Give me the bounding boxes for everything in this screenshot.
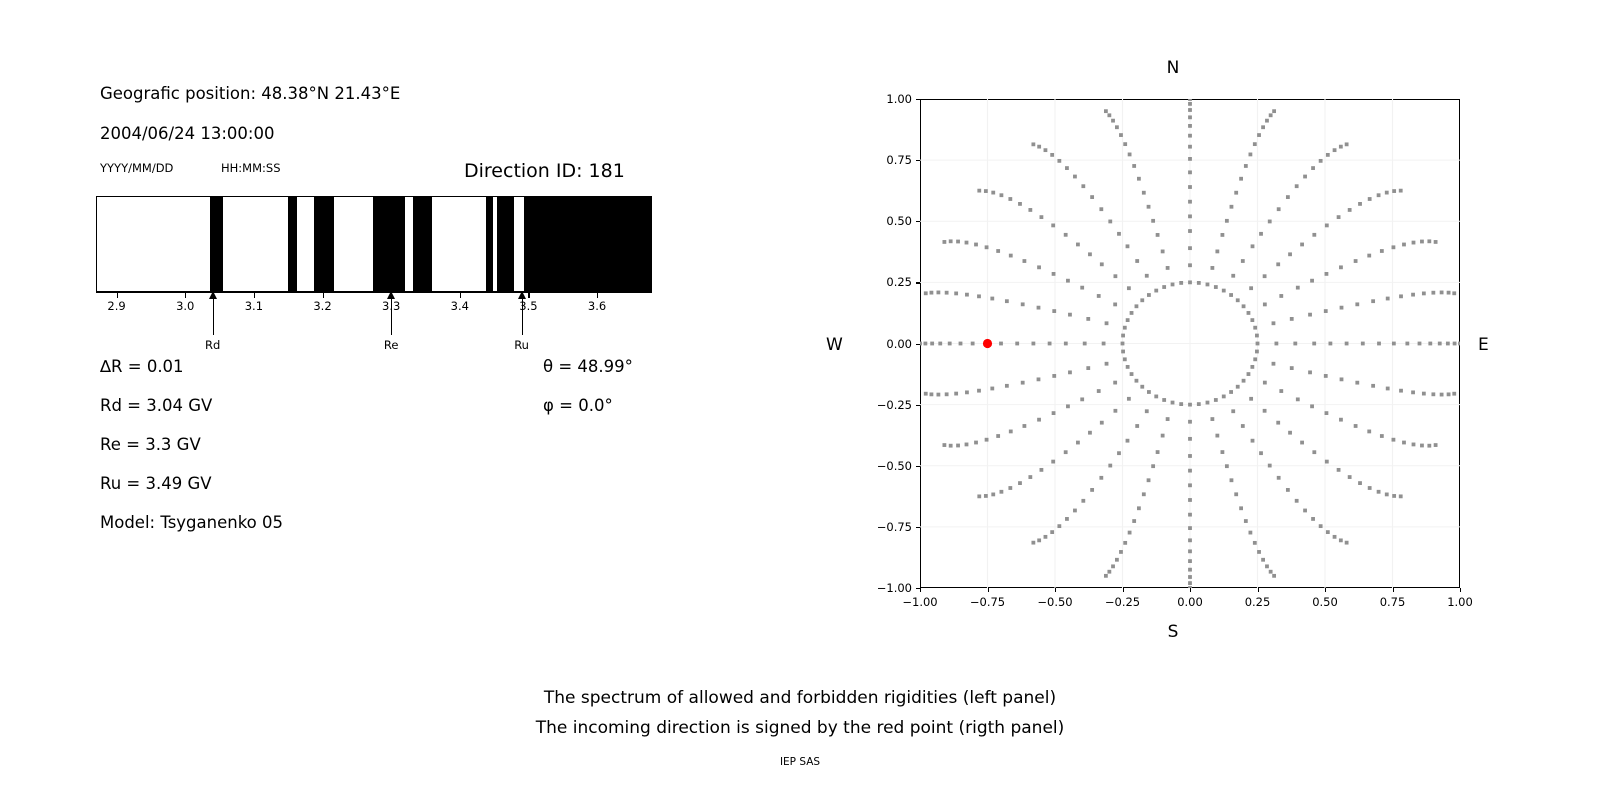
scatter-point [1392,189,1396,193]
scatter-point [1272,362,1276,366]
forbidden-band [314,197,334,291]
datetime-text: 2004/06/24 13:00:00 [100,124,274,143]
scatter-point [1420,240,1424,244]
scatter-point [1248,153,1252,157]
scatter-point [1142,191,1146,195]
scatter-point [1337,215,1341,219]
compass-label-north: N [1167,58,1180,78]
scatter-point [1355,302,1359,306]
y-axis-tick-label: −0.75 [877,520,912,534]
scatter-point [1251,244,1255,248]
scatter-point [1100,421,1104,425]
scatter-point [1276,421,1280,425]
scatter-point [1325,224,1329,228]
scatter-point [1154,289,1158,293]
scatter-point [1377,490,1381,494]
scatter-point [1000,193,1004,197]
scatter-point [1040,215,1044,219]
y-axis-tick-label: −0.25 [877,398,912,412]
scatter-point [1188,513,1192,517]
scatter-point [1310,279,1314,283]
scatter-point [1337,468,1341,472]
scatter-point [977,189,981,193]
scatter-point [1276,262,1280,266]
scatter-point [1015,342,1019,346]
scatter-point [1325,460,1329,464]
scatter-point [1296,286,1300,290]
y-axis-tick-label: 1.00 [886,92,912,106]
param-phi: φ = 0.0° [543,396,613,415]
y-axis-tick-label: 0.75 [886,153,912,167]
scatter-point [1300,243,1304,247]
scatter-point [1286,488,1290,492]
scatter-point [1277,207,1281,211]
scatter-point [1402,441,1406,445]
scatter-point [1188,124,1192,128]
scatter-point [954,292,958,296]
scatter-point [1221,450,1225,454]
scatter-point [1037,145,1041,149]
scatter-point [1333,535,1337,539]
scatter-point [1008,197,1012,201]
scatter-point [1405,342,1409,346]
scatter-point [1247,311,1251,315]
scatter-point [1145,409,1149,413]
scatter-point [1113,274,1117,278]
scatter-point [1358,481,1362,485]
scatter-point [1324,374,1328,378]
scatter-point [954,392,958,396]
scatter-point [996,249,1000,253]
scatter-point [1188,280,1192,284]
scatter-point [1022,424,1026,428]
scatter-point [1231,409,1235,413]
scatter-point [1326,153,1330,157]
scatter-point [1377,193,1381,197]
scatter-point [1126,439,1130,443]
scatter-point [1399,389,1403,393]
scatter-point [1303,509,1307,513]
scatter-point [1392,494,1396,498]
incoming-direction-chart [920,99,1460,588]
scatter-point [1308,370,1312,374]
scatter-point [1197,281,1201,285]
scatter-point [1420,444,1424,448]
scatter-point [1073,509,1077,513]
scatter-point [1188,102,1192,106]
spectrum-bar [96,196,652,292]
scatter-point [1066,279,1070,283]
x-axis-tick [1258,588,1259,592]
scatter-point [1411,390,1415,394]
scatter-point [1121,350,1125,354]
scatter-point [1179,281,1183,285]
scatter-point [1222,395,1226,399]
scatter-point [1081,184,1085,188]
scatter-point [1166,417,1170,421]
scatter-point [1140,298,1144,302]
scatter-point [930,392,934,396]
scatter-point [1231,274,1235,278]
x-axis-tick-label: −0.50 [1037,595,1072,609]
scatter-point [1086,317,1090,321]
scatter-point [1339,265,1343,269]
scatter-point [1206,401,1210,405]
scatter-point [1225,464,1229,468]
scatter-point [1263,409,1267,413]
scatter-point [1288,431,1292,435]
scatter-point [1311,517,1315,521]
scatter-point [1090,195,1094,199]
scatter-point [1031,541,1035,545]
scatter-point [1241,424,1245,428]
compass-label-west: W [826,335,843,355]
scatter-point [1107,570,1111,574]
polar-scatter-canvas [920,99,1460,588]
scatter-point [1188,420,1192,424]
scatter-point [1440,291,1444,295]
scatter-point [1188,437,1192,441]
scatter-point [1239,177,1243,181]
scatter-point [1447,291,1451,295]
scatter-point [1064,342,1068,346]
scatter-point [984,494,988,498]
scatter-point [1392,342,1396,346]
scatter-point [1339,538,1343,542]
x-axis-tick [1055,588,1056,592]
scatter-point [1130,372,1134,376]
marker-arrowhead-re [387,291,395,299]
scatter-point [1145,274,1149,278]
scatter-point [1111,564,1115,568]
scatter-point [1269,570,1273,574]
x-axis-tick-label: −0.25 [1105,595,1140,609]
scatter-point [1239,506,1243,510]
scatter-point [942,240,946,244]
scatter-point [1021,302,1025,306]
x-axis-tick [1393,588,1394,592]
scatter-point [1234,492,1238,496]
scatter-point [1229,390,1233,394]
scatter-point [1188,134,1192,138]
scatter-point [1222,289,1226,293]
scatter-point [1188,454,1192,458]
scatter-point [1113,303,1117,307]
scatter-point [1052,374,1056,378]
scatter-point [1065,166,1069,170]
x-axis-tick-label: 0.00 [1177,595,1203,609]
scatter-point [1265,564,1269,568]
scatter-point [1090,488,1094,492]
scatter-point [1140,385,1144,389]
scatter-point [1126,318,1130,322]
scatter-point [1161,434,1165,438]
scatter-point [1064,233,1068,237]
scatter-point [1127,397,1131,401]
scatter-point [1005,299,1009,303]
scatter-point [1354,424,1358,428]
scatter-point [1354,259,1358,263]
scatter-point [1037,265,1041,269]
scatter-point [1253,142,1257,146]
scatter-point [1312,450,1316,454]
scatter-point [1102,342,1106,346]
scatter-point [1161,250,1165,254]
scatter-point [1206,283,1210,287]
scatter-point [1434,443,1438,447]
scatter-point [1272,109,1276,113]
scatter-point [924,291,928,295]
scatter-point [1438,342,1442,346]
x-axis-tick-label: 0.25 [1245,595,1271,609]
y-axis-tick [916,588,920,589]
scatter-point [1434,240,1438,244]
spectrum-markers: RdReRu [96,292,652,352]
scatter-point [1225,219,1229,223]
scatter-point [1188,559,1192,563]
scatter-point [1367,430,1371,434]
scatter-point [1064,450,1068,454]
scatter-point [1068,370,1072,374]
scatter-point [1279,294,1283,298]
scatter-point [1080,397,1084,401]
scatter-point [1392,438,1396,442]
scatter-point [1018,202,1022,206]
scatter-point [1188,115,1192,119]
scatter-point [1113,381,1117,385]
scatter-point [938,342,942,346]
scatter-point [1277,476,1281,480]
scatter-point [1236,385,1240,389]
scatter-point [1021,381,1025,385]
scatter-point [1009,254,1013,258]
marker-label-re: Re [384,338,399,352]
scatter-point [1022,259,1026,263]
scatter-point [1440,393,1444,397]
scatter-point [1428,342,1432,346]
scatter-point [1117,232,1121,236]
scatter-point [1371,299,1375,303]
scatter-point [1248,531,1252,535]
scatter-point [1386,297,1390,301]
scatter-point [1251,439,1255,443]
scatter-point [1259,232,1263,236]
scatter-point [1399,189,1403,193]
scatter-point [1126,244,1130,248]
scatter-point [971,342,975,346]
scatter-point [1242,304,1246,308]
scatter-point [1031,142,1035,146]
scatter-point [1272,321,1276,325]
scatter-point [990,387,994,391]
forbidden-band [524,197,652,291]
scatter-point [1290,317,1294,321]
scatter-point [1385,191,1389,195]
scatter-point [1032,342,1036,346]
scatter-point [959,342,963,346]
scatter-point [1255,334,1259,338]
scatter-point [1188,108,1192,112]
scatter-point [1135,259,1139,263]
scatter-point [1358,202,1362,206]
scatter-point [924,342,928,346]
scatter-point [1241,259,1245,263]
scatter-point [1005,384,1009,388]
scatter-point [930,291,934,295]
scatter-point [1113,409,1117,413]
caption-line-2: The incoming direction is signed by the … [0,718,1600,738]
y-axis-tick-label: 0.00 [886,337,912,351]
scatter-point [1275,342,1279,346]
scatter-point [1097,389,1101,393]
scatter-point [1249,286,1253,290]
scatter-point [1214,285,1218,289]
scatter-point [1319,159,1323,163]
scatter-point [1137,177,1141,181]
scatter-point [1300,441,1304,445]
scatter-point [1142,492,1146,496]
x-axis-tick [1460,588,1461,592]
scatter-point [1458,342,1460,346]
scatter-point [1044,535,1048,539]
scatter-point [1018,481,1022,485]
scatter-point [1230,478,1234,482]
incoming-direction-point [983,339,992,348]
scatter-point [1052,272,1056,276]
scatter-point [1050,153,1054,157]
scatter-point [1107,113,1111,117]
forbidden-band [288,197,297,291]
scatter-point [1326,530,1330,534]
compass-label-south: S [1168,622,1179,642]
x-axis-tick-label: −1.00 [902,595,937,609]
scatter-point [1230,205,1234,209]
scatter-point [1128,153,1132,157]
scatter-point [1081,499,1085,503]
scatter-point [1247,372,1251,376]
scatter-point [1188,145,1192,149]
scatter-point [1057,524,1061,528]
scatter-point [1311,166,1315,170]
scatter-point [1052,309,1056,313]
scatter-point [1380,434,1384,438]
scatter-point [965,443,969,447]
x-axis-tick [1325,588,1326,592]
scatter-point [1368,486,1372,490]
rigidity-spectrum-chart [96,196,652,292]
scatter-point [1052,411,1056,415]
y-axis-tick-label: 0.50 [886,214,912,228]
scatter-point [1068,313,1072,317]
scatter-point [1399,494,1403,498]
scatter-point [1044,148,1048,152]
scatter-point [1412,443,1416,447]
scatter-point [1008,486,1012,490]
scatter-point [1151,219,1155,223]
scatter-point [1263,381,1267,385]
marker-label-rd: Rd [205,338,220,352]
scatter-point [1051,224,1055,228]
scatter-point [1048,342,1052,346]
scatter-point [1108,464,1112,468]
scatter-point [1385,493,1389,497]
scatter-point [1147,205,1151,209]
scatter-point [977,389,981,393]
scatter-point [1188,498,1192,502]
scatter-point [1427,444,1431,448]
scatter-point [1009,430,1013,434]
scatter-point [1127,286,1131,290]
scatter-point [985,438,989,442]
scatter-point [1367,254,1371,258]
scatter-point [1121,342,1125,346]
param-ru: Ru = 3.49 GV [100,474,212,493]
scatter-point [1221,233,1225,237]
scatter-point [1104,574,1108,578]
scatter-point [1308,313,1312,317]
scatter-point [1452,392,1456,396]
scatter-point [1154,395,1158,399]
scatter-point [948,342,952,346]
forbidden-band [486,197,494,291]
scatter-point [1037,418,1041,422]
scatter-point [1126,365,1130,369]
scatter-point [1333,148,1337,152]
scatter-point [1123,541,1127,545]
scatter-point [1339,418,1343,422]
scatter-point [1263,274,1267,278]
scatter-point [924,392,928,396]
x-axis-tick [988,588,989,592]
scatter-point [1412,241,1416,245]
scatter-point [1147,390,1151,394]
scatter-point [1086,366,1090,370]
scatter-point [1279,389,1283,393]
scatter-point [1340,306,1344,310]
scatter-point [1188,157,1192,161]
scatter-point [1236,298,1240,302]
param-model: Model: Tsyganenko 05 [100,513,283,532]
y-axis-tick-label: 0.25 [886,275,912,289]
scatter-point [1392,245,1396,249]
scatter-point [1253,357,1257,361]
scatter-point [1188,469,1192,473]
footer-credit: IEP SAS [0,756,1600,768]
scatter-point [1348,475,1352,479]
scatter-point [1028,208,1032,212]
scatter-point [1447,392,1451,396]
scatter-point [1188,214,1192,218]
scatter-point [1083,342,1087,346]
scatter-point [1065,517,1069,521]
x-axis-tick [1123,588,1124,592]
scatter-point [1188,586,1192,588]
scatter-point [1080,286,1084,290]
date-format-hint: YYYY/MM/DD [100,161,173,175]
param-re: Re = 3.3 GV [100,435,201,454]
scatter-point [985,245,989,249]
forbidden-band [497,197,514,291]
scatter-point [1256,342,1260,346]
scatter-point [1188,246,1192,250]
scatter-point [1188,483,1192,487]
scatter-point [1319,524,1323,528]
scatter-point [1261,558,1265,562]
scatter-point [1037,538,1041,542]
scatter-point [1324,309,1328,313]
forbidden-band [210,197,222,291]
scatter-point [1339,145,1343,149]
